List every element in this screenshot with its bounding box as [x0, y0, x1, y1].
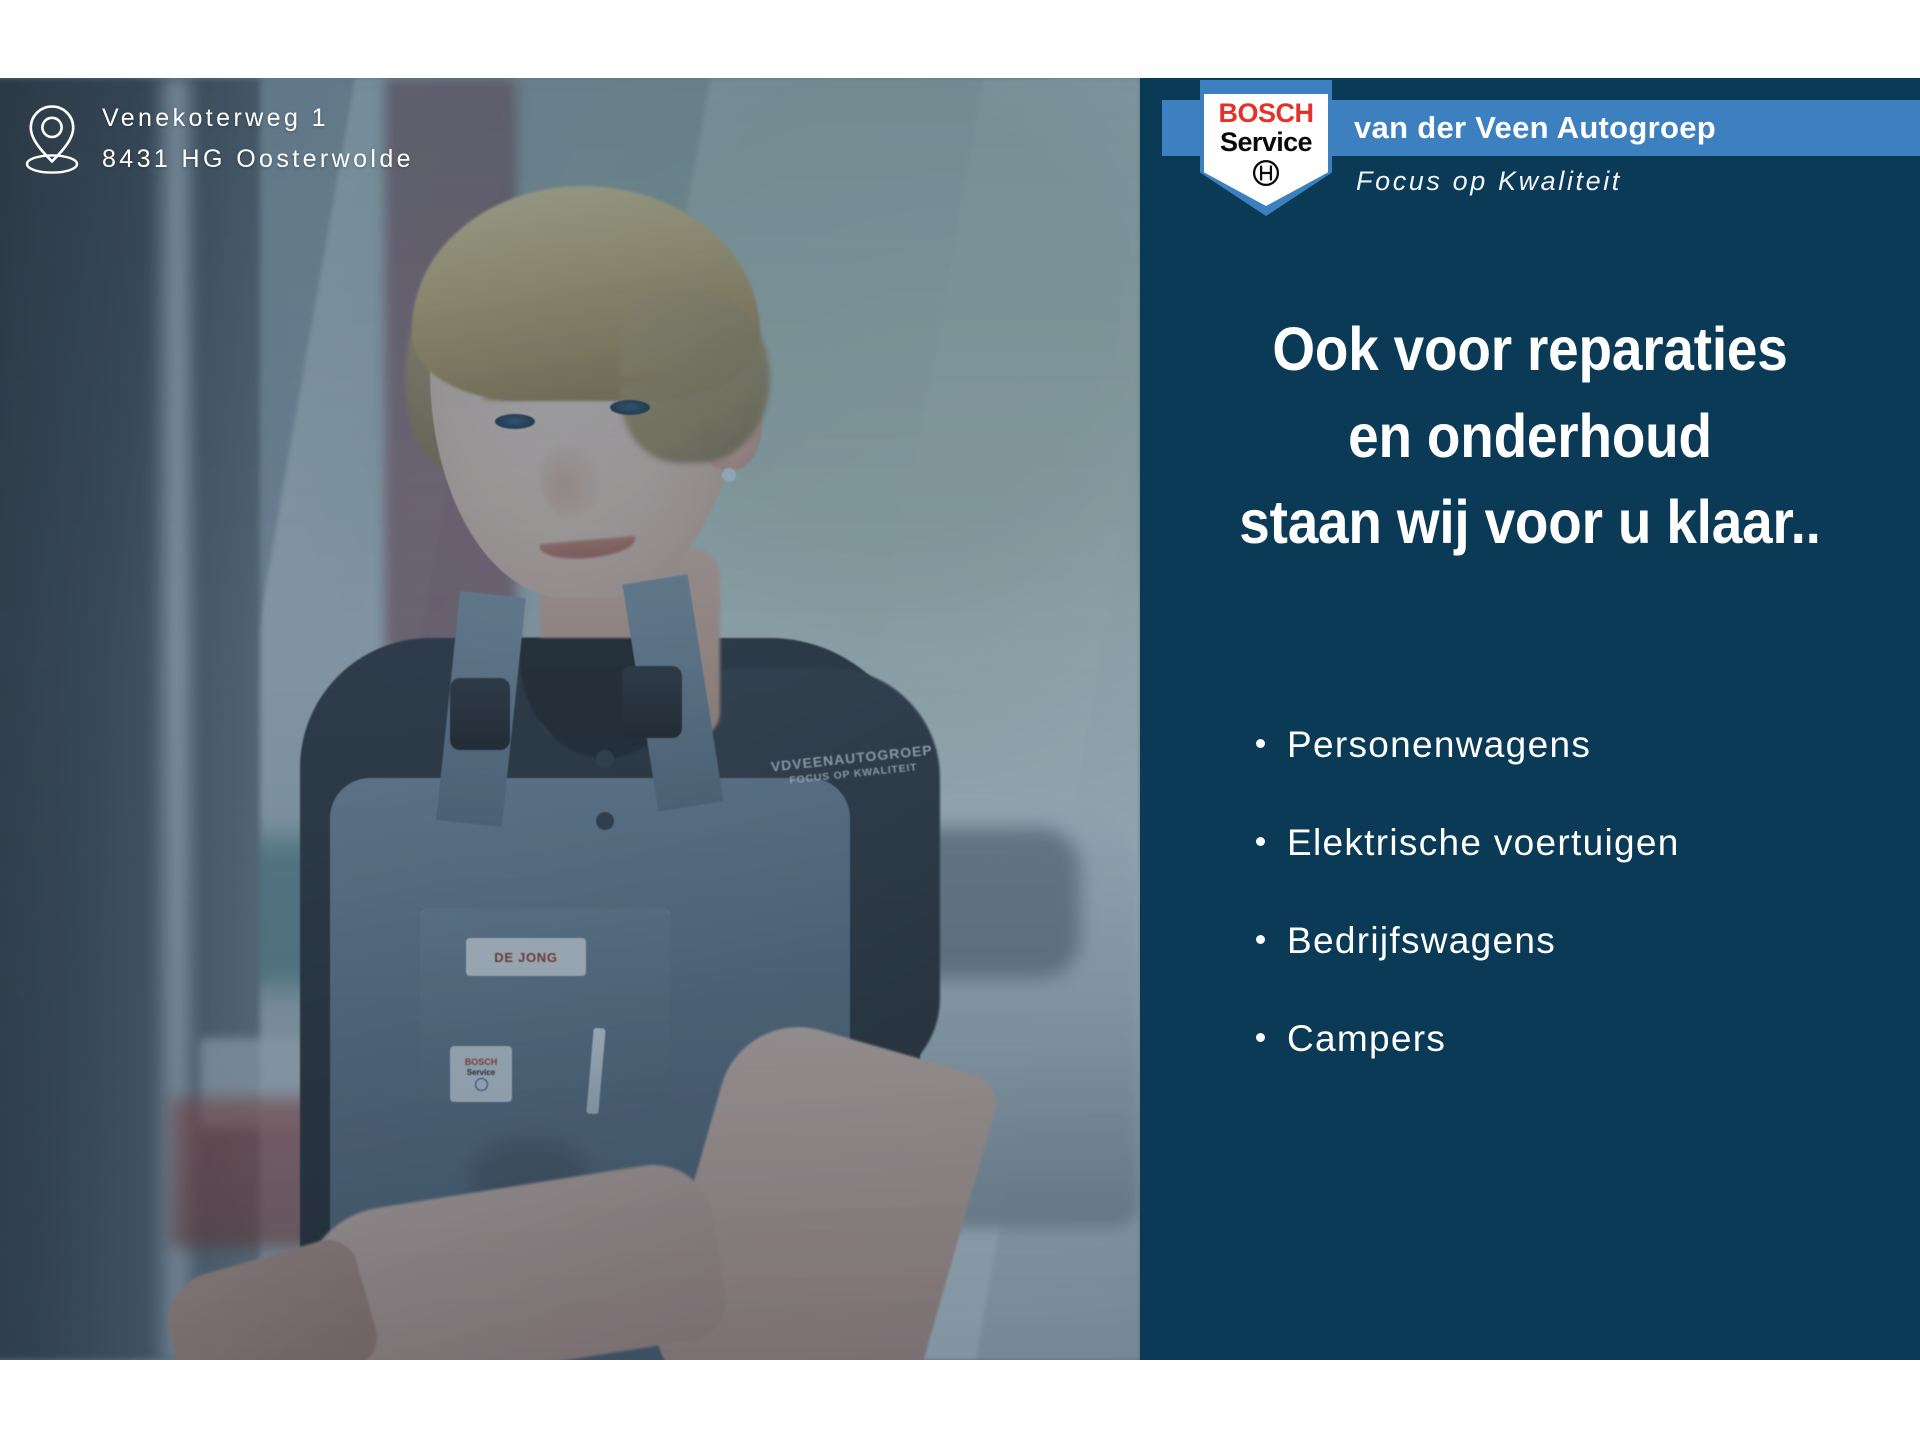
banner-canvas: DE JONG BOSCH Service VDVEENAUTOGROEP FO… [0, 78, 1920, 1360]
brand-name: van der Veen Autogroep [1354, 100, 1716, 156]
address-line-street: Venekoterweg 1 [102, 98, 414, 139]
service-label: Bedrijfswagens [1287, 920, 1556, 962]
workshop-photo: DE JONG BOSCH Service VDVEENAUTOGROEP FO… [0, 78, 1140, 1360]
list-item: Personenwagens [1256, 724, 1896, 766]
headline-line-1: Ook voor reparaties [1179, 306, 1881, 393]
bosch-service-logo-inner: BOSCH Service [1204, 94, 1328, 206]
service-label: Elektrische voertuigen [1287, 822, 1680, 864]
bosch-armature-icon [1252, 159, 1280, 192]
list-item: Elektrische voertuigen [1256, 822, 1896, 864]
headline-line-2: en onderhoud [1179, 393, 1881, 480]
bullet-dot-icon [1256, 837, 1265, 846]
list-item: Campers [1256, 1018, 1896, 1060]
photo-haze-overlay [0, 78, 1140, 1360]
bullet-dot-icon [1256, 739, 1265, 748]
services-list: Personenwagens Elektrische voertuigen Be… [1256, 724, 1896, 1116]
service-label: Personenwagens [1287, 724, 1591, 766]
info-panel: BOSCH Service van der Veen Autogroep Foc… [1140, 78, 1920, 1360]
bosch-wordmark: BOSCH [1218, 100, 1313, 127]
list-item: Bedrijfswagens [1256, 920, 1896, 962]
address-line-city: 8431 HG Oosterwolde [102, 139, 414, 180]
address-lines: Venekoterweg 1 8431 HG Oosterwolde [102, 98, 414, 179]
brand-tagline: Focus op Kwaliteit [1356, 166, 1622, 197]
brand-lockup: BOSCH Service van der Veen Autogroep Foc… [1140, 78, 1920, 218]
advertisement-banner: DE JONG BOSCH Service VDVEENAUTOGROEP FO… [0, 0, 1920, 1440]
bullet-dot-icon [1256, 935, 1265, 944]
bosch-service-logo: BOSCH Service [1200, 80, 1332, 216]
headline: Ook voor reparaties en onderhoud staan w… [1179, 306, 1881, 566]
headline-line-3: staan wij voor u klaar.. [1179, 479, 1881, 566]
service-wordmark: Service [1220, 128, 1312, 156]
bullet-dot-icon [1256, 1033, 1265, 1042]
service-label: Campers [1287, 1018, 1446, 1060]
location-pin-icon [24, 102, 80, 181]
address-block: Venekoterweg 1 8431 HG Oosterwolde [24, 98, 414, 181]
